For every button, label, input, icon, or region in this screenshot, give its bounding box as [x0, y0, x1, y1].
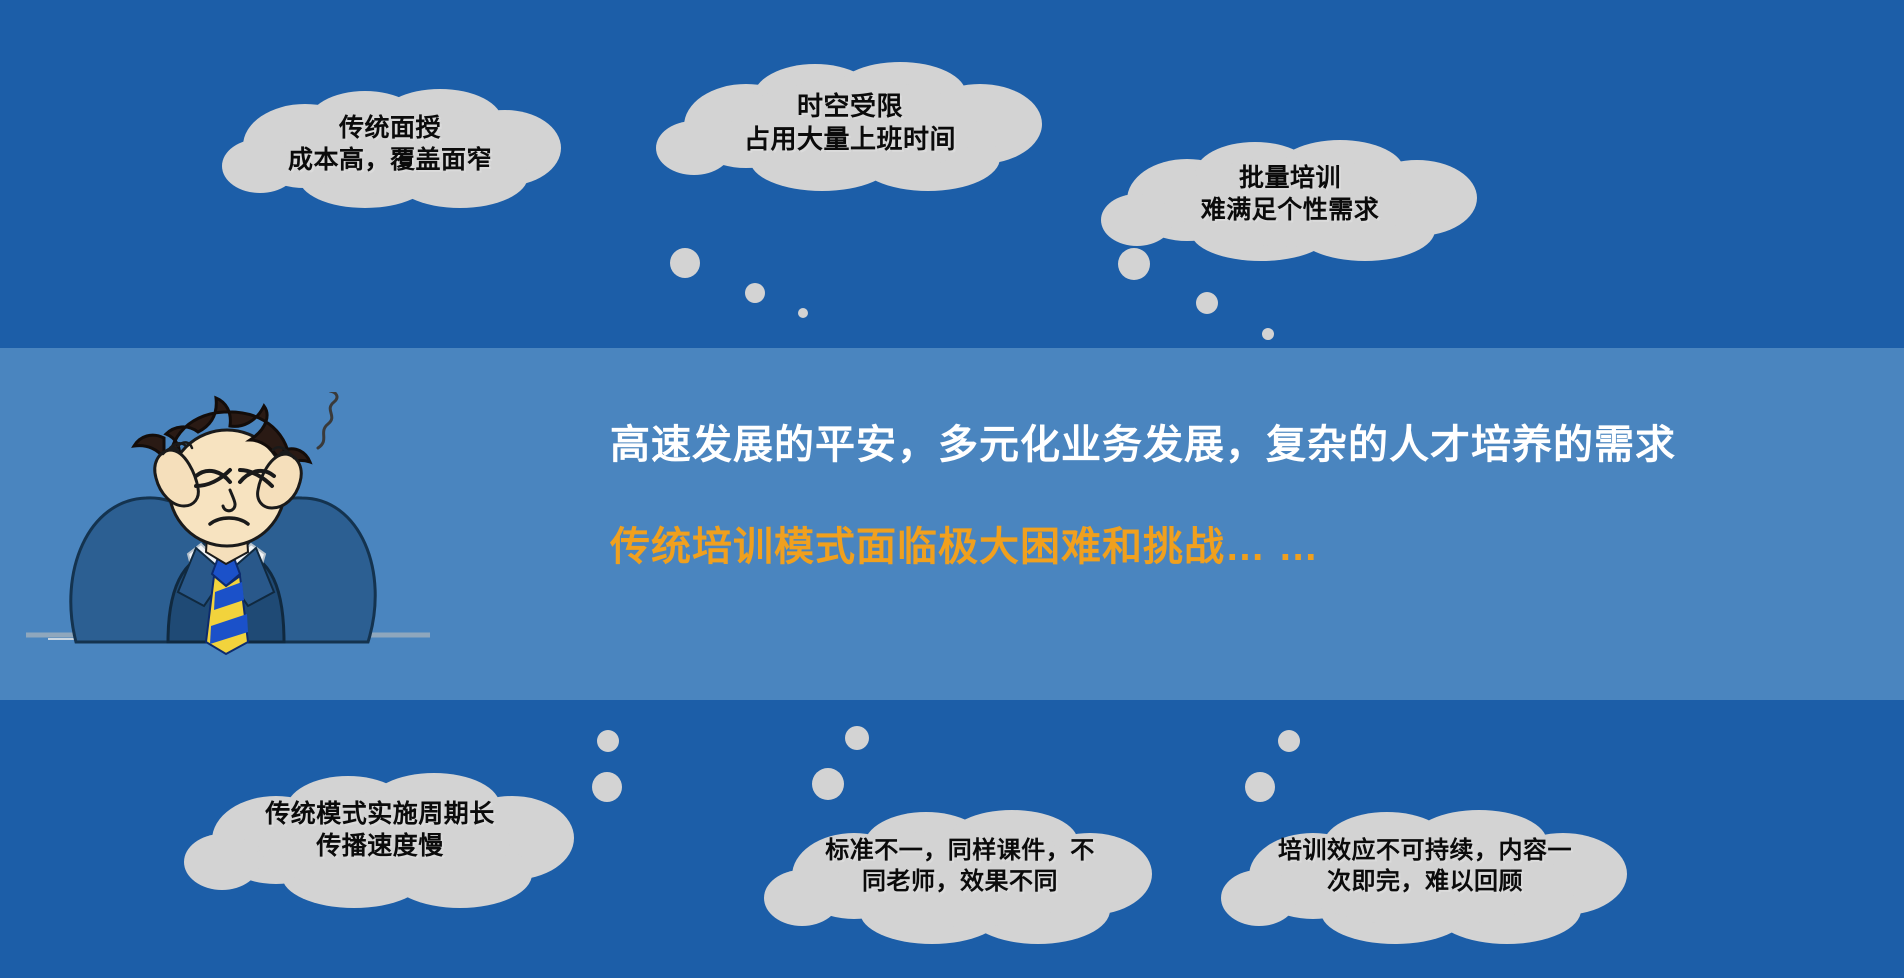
thought-dot: [1262, 328, 1274, 340]
thought-cloud-not-sustainable: 培训效应不可持续，内容一 次即完，难以回顾: [1215, 808, 1635, 948]
thought-dot: [845, 726, 869, 750]
cloud-shape-icon: [760, 808, 1160, 948]
cloud-shape-icon: [650, 62, 1050, 192]
thought-dot: [1278, 730, 1300, 752]
headline-line-1: 高速发展的平安，多元化业务发展，复杂的人才培养的需求: [610, 420, 1840, 470]
thought-cloud-batch-training: 批量培训 难满足个性需求: [1095, 140, 1485, 260]
cloud-shape-icon: [215, 88, 565, 208]
thought-cloud-long-cycle: 传统模式实施周期长 传播速度慢: [180, 770, 580, 910]
cloud-shape-icon: [180, 770, 580, 910]
thought-cloud-inconsistent-standard: 标准不一，同样课件，不 同老师，效果不同: [760, 808, 1160, 948]
thought-cloud-time-space-limited: 时空受限 占用大量上班时间: [650, 62, 1050, 192]
thought-dot: [670, 248, 700, 278]
thought-dot: [812, 768, 844, 800]
cloud-shape-icon: [1215, 808, 1635, 948]
slide-canvas: 传统面授 成本高，覆盖面窄 时空受限 占用大量上班时间: [0, 0, 1904, 978]
illustration-stressed-businessman: [18, 392, 438, 662]
stressed-businessman-icon: [18, 392, 438, 662]
thought-dot: [592, 772, 622, 802]
thought-dot: [597, 730, 619, 752]
thought-dot: [745, 283, 765, 303]
headline-line-2: 传统培训模式面临极大困难和挑战… …: [610, 522, 1840, 572]
thought-dot: [1118, 248, 1150, 280]
headline-block: 高速发展的平安，多元化业务发展，复杂的人才培养的需求 传统培训模式面临极大困难和…: [610, 420, 1840, 572]
thought-dot: [1245, 772, 1275, 802]
thought-dot: [798, 308, 808, 318]
thought-dot: [1196, 292, 1218, 314]
thought-cloud-traditional-classroom: 传统面授 成本高，覆盖面窄: [215, 88, 565, 208]
cloud-shape-icon: [1095, 140, 1485, 260]
